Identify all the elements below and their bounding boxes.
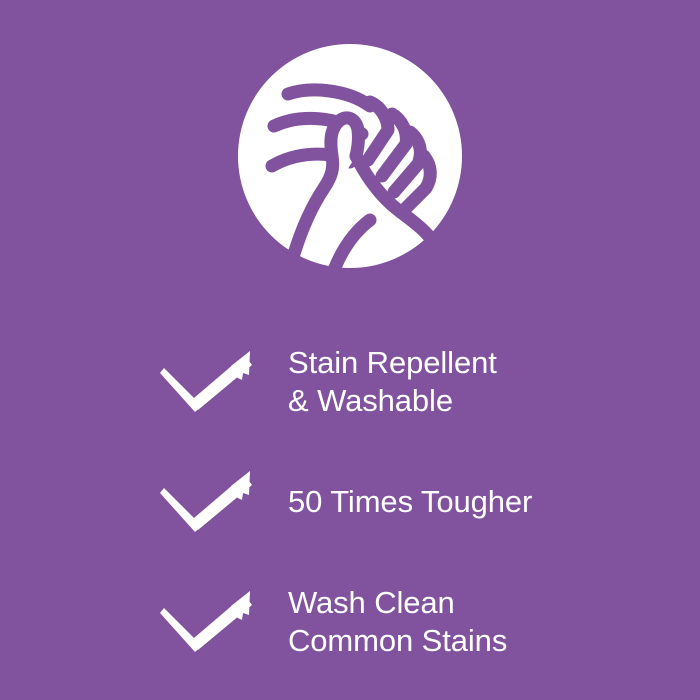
feature-list: Stain Repellent & Washable 50 Times Toug… — [0, 318, 700, 680]
feature-item: Stain Repellent & Washable — [150, 334, 650, 430]
feature-badge-panel: Stain Repellent & Washable 50 Times Toug… — [0, 0, 700, 700]
feature-label: 50 Times Tougher — [288, 483, 650, 521]
feature-label: Wash Clean Common Stains — [288, 584, 650, 660]
check-arrow-icon — [158, 589, 262, 655]
check-arrow-icon — [158, 349, 262, 415]
check-arrow-icon — [158, 469, 262, 535]
washing-hands-icon — [238, 42, 462, 274]
feature-item: Wash Clean Common Stains — [150, 574, 650, 670]
feature-item: 50 Times Tougher — [150, 454, 650, 550]
feature-label: Stain Repellent & Washable — [288, 344, 650, 420]
